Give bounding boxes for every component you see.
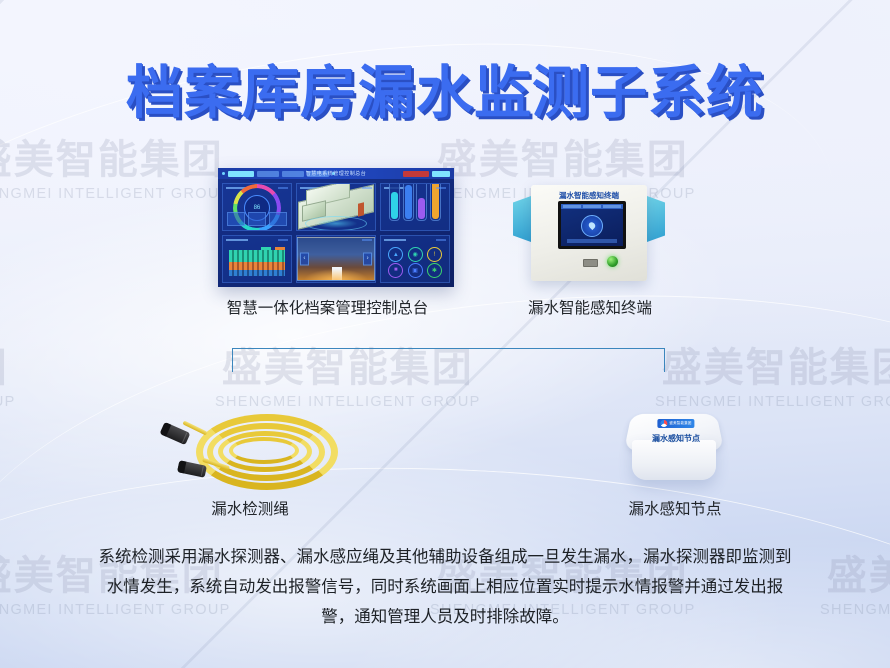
dashboard-panel-grid: 86	[218, 179, 454, 287]
watermark-cn: 盛美智能集团	[0, 348, 16, 388]
video-prev-button[interactable]: ‹	[300, 253, 309, 266]
leak-sensing-terminal-image: 漏水智能感知终端	[513, 185, 665, 281]
node-device-label: 漏水感知节点	[622, 433, 730, 444]
watermark-cn: 盛美智能集团	[655, 348, 890, 388]
video-next-button[interactable]: ›	[363, 253, 372, 266]
dashboard-panel-bars	[380, 183, 450, 231]
node-brand-badge: 盛美智能集团	[657, 419, 694, 428]
gauge-card-2	[269, 212, 287, 226]
humidity-icon[interactable]: ◉	[408, 247, 423, 262]
poster-canvas: 盛美智能集团 SHENGMEI INTELLIGENT GROUP 盛美智能集团…	[0, 0, 890, 668]
watermark-en: SHENGMEI INTELLIGENT GROUP	[0, 395, 16, 410]
watermark: 盛美智能集团 SHENGMEI INTELLIGENT GROUP	[0, 140, 231, 202]
page-title: 档案库房漏水监测子系统	[0, 47, 890, 129]
dashboard-topbar: 智慧电系统管理控制总台	[218, 168, 454, 179]
dashboard-panel-model	[296, 183, 376, 231]
leak-detection-cable-image	[160, 410, 340, 490]
archive-room-3d-model-icon	[298, 183, 374, 227]
gauge-card-1	[248, 212, 266, 226]
dashboard-panel-icons: ▲ ◉ ! ■ ▣ ✱	[380, 235, 450, 283]
terminal-screen-footer	[567, 239, 617, 243]
watermark: 盛美智能集团 SHENGMEI INTELLIGENT GROUP	[820, 556, 890, 618]
section-bracket-divider	[232, 348, 665, 372]
gauge-mini-cards	[227, 212, 287, 226]
settings-icon[interactable]: ✱	[427, 263, 442, 278]
description-paragraph: 系统检测采用漏水探测器、漏水感应绳及其他辅助设备组成一旦发生漏水，漏水探测器即监…	[95, 542, 795, 632]
caption-cable: 漏水检测绳	[155, 497, 345, 519]
terminal-right-wing	[647, 196, 665, 242]
terminal-device-label: 漏水智能感知终端	[531, 190, 647, 201]
water-drop-icon	[581, 215, 603, 237]
gauge-card-0	[227, 212, 245, 226]
watermark-en: SHENGMEI INTELLIGENT GROUP	[820, 603, 890, 618]
dashboard-panel-gauge: 86	[222, 183, 292, 231]
terminal-screen-topbar	[561, 204, 623, 209]
leak-sensing-node-image: 盛美智能集团 漏水感知节点	[622, 408, 730, 494]
watermark: 盛美智能集团 SHENGMEI INTELLIGENT GROUP	[655, 348, 890, 410]
watermark-cn: 盛美智能集团	[430, 140, 696, 180]
node-front-face	[632, 440, 716, 480]
dashboard-panel-video: ‹ ›	[296, 235, 376, 283]
terminal-screen-ui	[561, 204, 623, 246]
cable-coil	[196, 414, 328, 482]
terminal-screen[interactable]	[558, 201, 626, 249]
access-icon[interactable]: ■	[388, 263, 403, 278]
function-icon-grid: ▲ ◉ ! ■ ▣ ✱	[386, 247, 444, 278]
console-dashboard-image: 智慧电系统管理控制总台 86	[218, 168, 454, 287]
background-swoosh-1	[0, 46, 890, 624]
terminal-left-wing	[513, 196, 531, 242]
watermark-cn: 盛美智能集团	[820, 556, 890, 596]
alarm-icon[interactable]: !	[427, 247, 442, 262]
node-badge-text: 盛美智能集团	[669, 421, 691, 426]
caption-terminal: 漏水智能感知终端	[505, 296, 675, 318]
company-logo-icon	[660, 420, 667, 427]
terminal-port-icon	[583, 259, 598, 267]
watermark: 盛美智能集团 SHENGMEI INTELLIGENT GROUP	[0, 348, 16, 410]
watermark-en: SHENGMEI INTELLIGENT GROUP	[215, 395, 481, 410]
bar-chart	[388, 195, 442, 221]
watermark-cn: 盛美智能集团	[0, 140, 231, 180]
wave-chart	[229, 250, 285, 276]
terminal-body: 漏水智能感知终端	[531, 185, 647, 281]
watermark-en: SHENGMEI INTELLIGENT GROUP	[0, 187, 231, 202]
temperature-icon[interactable]: ▲	[388, 247, 403, 262]
caption-node: 漏水感知节点	[590, 497, 760, 519]
caption-console: 智慧一体化档案管理控制总台	[195, 296, 460, 318]
terminal-status-led	[607, 256, 618, 267]
video-icon[interactable]: ▣	[408, 263, 423, 278]
dashboard-panel-wave	[222, 235, 292, 283]
dashboard-header-title: 智慧电系统管理控制总台	[218, 170, 454, 177]
